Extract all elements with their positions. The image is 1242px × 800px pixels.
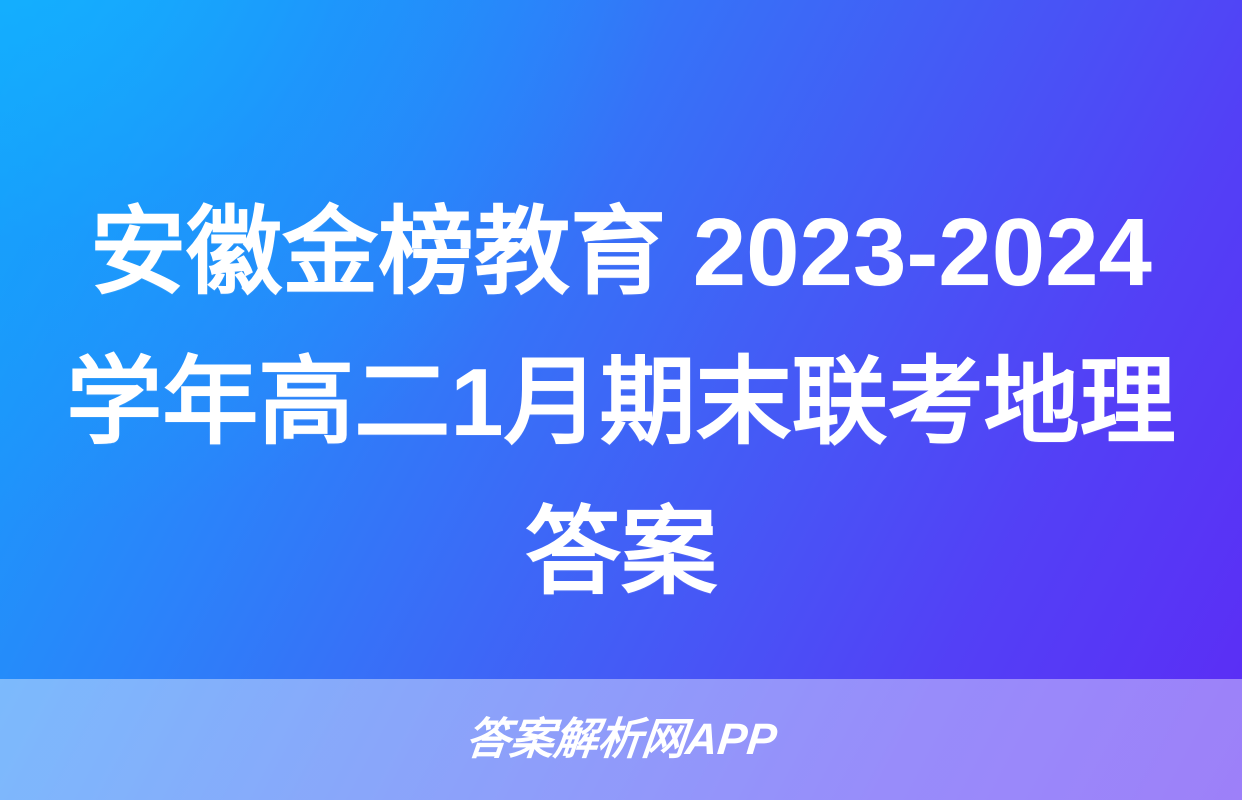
page-title: 安徽金榜教育 2023-2024学年高二1月期末联考地理答案	[54, 178, 1188, 628]
footer-watermark-band: 答案解析网APP	[0, 679, 1242, 800]
app-watermark-label: 答案解析网APP	[463, 718, 778, 762]
title-block: 安徽金榜教育 2023-2024学年高二1月期末联考地理答案	[0, 178, 1242, 628]
answer-cover-banner: 安徽金榜教育 2023-2024学年高二1月期末联考地理答案 答案解析网APP	[0, 0, 1242, 800]
